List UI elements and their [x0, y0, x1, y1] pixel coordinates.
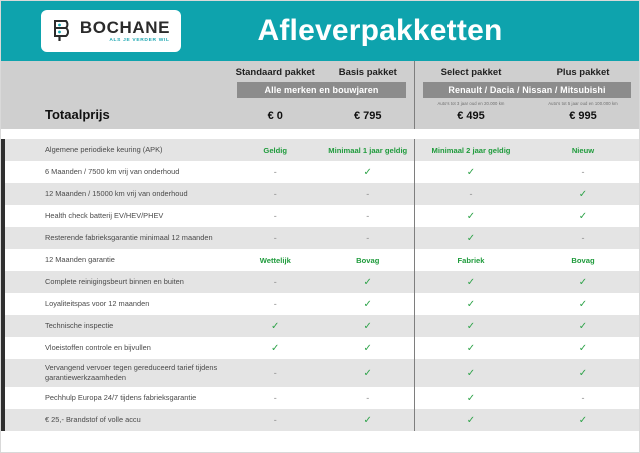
cell-select: ✓ [415, 271, 527, 293]
row-cells-brands: Minimaal 2 jaar geldigNieuw [414, 139, 639, 161]
cell-basis: ✓ [322, 161, 415, 183]
cell-select: ✓ [415, 315, 527, 337]
row-cells-brands: ✓✓ [414, 359, 639, 387]
totaalprijs-label-cell: Totaalprijs [1, 61, 229, 129]
row-cells-generic: WettelijkBovag [229, 249, 414, 271]
page-header: BOCHANE ALS JE VERDER WIL Afleverpakkett… [1, 1, 639, 61]
cell-basis: Minimaal 1 jaar geldig [322, 139, 415, 161]
cell-basis: - [322, 183, 415, 205]
cell-select: ✓ [415, 161, 527, 183]
table-row: 12 Maanden garantieWettelijkBovagFabriek… [1, 249, 639, 271]
table-row: Technische inspectie✓✓✓✓ [1, 315, 639, 337]
column-sub-plus: Auto's tot 5 jaar oud en 100.000 km [527, 101, 639, 110]
row-cells-generic: -- [229, 183, 414, 205]
row-cells-generic: -✓ [229, 161, 414, 183]
table-row: 12 Maanden / 15000 km vrij van onderhoud… [1, 183, 639, 205]
row-label: Complete reinigingsbeurt binnen en buite… [1, 277, 229, 287]
bochane-logo-icon [52, 18, 74, 44]
table-row: Complete reinigingsbeurt binnen en buite… [1, 271, 639, 293]
cell-standaard: - [229, 161, 322, 183]
cell-plus: ✓ [527, 293, 639, 315]
cell-basis: ✓ [322, 293, 415, 315]
package-group-brands: Select pakket Plus pakket Renault / Daci… [414, 61, 639, 129]
row-cells-brands: ✓✓ [414, 315, 639, 337]
row-cells-brands: FabriekBovag [414, 249, 639, 271]
cell-plus: - [527, 161, 639, 183]
cell-plus: - [527, 227, 639, 249]
cell-standaard: Geldig [229, 139, 322, 161]
row-cells-generic: -✓ [229, 359, 414, 387]
cell-select: ✓ [415, 337, 527, 359]
row-cells-brands: ✓✓ [414, 409, 639, 431]
price-basis: € 795 [322, 110, 415, 122]
cell-select: ✓ [415, 293, 527, 315]
column-title-select: Select pakket [415, 67, 527, 78]
row-cells-brands: ✓✓ [414, 337, 639, 359]
cell-standaard: - [229, 227, 322, 249]
cell-basis: ✓ [322, 337, 415, 359]
package-group-generic: Standaard pakket Basis pakket Alle merke… [229, 61, 414, 129]
afleverpakketten-page: BOCHANE ALS JE VERDER WIL Afleverpakkett… [0, 0, 640, 453]
cell-plus: ✓ [527, 315, 639, 337]
cell-plus: ✓ [527, 205, 639, 227]
cell-standaard: - [229, 183, 322, 205]
cell-basis: - [322, 227, 415, 249]
row-label: Technische inspectie [1, 321, 229, 331]
cell-select: Minimaal 2 jaar geldig [415, 139, 527, 161]
brand-tagline: ALS JE VERDER WIL [110, 39, 170, 44]
cell-select: Fabriek [415, 249, 527, 271]
table-row: € 25,- Brandstof of volle accu-✓✓✓ [1, 409, 639, 431]
row-cells-generic: -- [229, 205, 414, 227]
row-label: Pechhulp Europa 24/7 tijdens fabrieksgar… [1, 393, 229, 403]
row-cells-brands: ✓✓ [414, 205, 639, 227]
row-label: 12 Maanden garantie [1, 255, 229, 265]
table-row: Algemene periodieke keuring (APK)GeldigM… [1, 139, 639, 161]
cell-standaard: - [229, 271, 322, 293]
cell-basis: - [322, 387, 415, 409]
cell-select: ✓ [415, 227, 527, 249]
row-label: € 25,- Brandstof of volle accu [1, 415, 229, 425]
row-cells-brands: ✓✓ [414, 293, 639, 315]
group-badge-brands: Renault / Dacia / Nissan / Mitsubishi [423, 82, 631, 98]
row-label: 12 Maanden / 15000 km vrij van onderhoud [1, 189, 229, 199]
cell-standaard: - [229, 409, 322, 431]
row-cells-generic: -- [229, 227, 414, 249]
price-plus: € 995 [527, 110, 639, 122]
table-row: Vloeistoffen controle en bijvullen✓✓✓✓ [1, 337, 639, 359]
row-cells-brands: ✓- [414, 161, 639, 183]
cell-plus: ✓ [527, 359, 639, 387]
cell-plus: ✓ [527, 183, 639, 205]
cell-standaard: - [229, 205, 322, 227]
bochane-wordmark: BOCHANE ALS JE VERDER WIL [80, 19, 170, 43]
column-title-standaard: Standaard pakket [229, 67, 322, 78]
cell-plus: ✓ [527, 337, 639, 359]
cell-basis: Bovag [322, 249, 415, 271]
cell-basis: ✓ [322, 359, 415, 387]
cell-basis: - [322, 205, 415, 227]
table-row: 6 Maanden / 7500 km vrij van onderhoud-✓… [1, 161, 639, 183]
header-table-gap [1, 129, 639, 139]
column-title-plus: Plus pakket [527, 67, 639, 78]
column-header-band: Totaalprijs Standaard pakket Basis pakke… [1, 61, 639, 129]
row-cells-brands: ✓- [414, 387, 639, 409]
row-label: Vervangend vervoer tegen gereduceerd tar… [1, 363, 229, 383]
brand-name: BOCHANE [80, 19, 170, 36]
row-cells-generic: -✓ [229, 271, 414, 293]
row-label: Loyaliteitspas voor 12 maanden [1, 299, 229, 309]
table-row: Resterende fabrieksgarantie minimaal 12 … [1, 227, 639, 249]
cell-standaard: - [229, 387, 322, 409]
cell-plus: Bovag [527, 249, 639, 271]
row-cells-brands: ✓- [414, 227, 639, 249]
features-table: Algemene periodieke keuring (APK)GeldigM… [1, 139, 639, 431]
row-cells-generic: GeldigMinimaal 1 jaar geldig [229, 139, 414, 161]
table-row: Loyaliteitspas voor 12 maanden-✓✓✓ [1, 293, 639, 315]
cell-basis: ✓ [322, 271, 415, 293]
bochane-logo[interactable]: BOCHANE ALS JE VERDER WIL [41, 10, 181, 52]
cell-select: ✓ [415, 205, 527, 227]
table-row: Vervangend vervoer tegen gereduceerd tar… [1, 359, 639, 387]
row-label: Algemene periodieke keuring (APK) [1, 145, 229, 155]
cell-select: ✓ [415, 409, 527, 431]
price-select: € 495 [415, 110, 527, 122]
table-row: Health check batterij EV/HEV/PHEV--✓✓ [1, 205, 639, 227]
table-footer-pad [1, 431, 639, 449]
cell-standaard: Wettelijk [229, 249, 322, 271]
column-title-basis: Basis pakket [322, 67, 415, 78]
cell-plus: ✓ [527, 409, 639, 431]
cell-standaard: ✓ [229, 337, 322, 359]
row-cells-brands: -✓ [414, 183, 639, 205]
totaalprijs-label: Totaalprijs [45, 107, 110, 122]
cell-standaard: ✓ [229, 315, 322, 337]
group-subs-spacer-generic [229, 101, 414, 110]
row-label: Resterende fabrieksgarantie minimaal 12 … [1, 233, 229, 243]
price-standaard: € 0 [229, 110, 322, 122]
table-row: Pechhulp Europa 24/7 tijdens fabrieksgar… [1, 387, 639, 409]
row-label: 6 Maanden / 7500 km vrij van onderhoud [1, 167, 229, 177]
column-sub-select: Auto's tot 3 jaar oud en 20.000 km [415, 101, 527, 110]
row-cells-generic: ✓✓ [229, 315, 414, 337]
row-cells-generic: -✓ [229, 293, 414, 315]
row-label: Vloeistoffen controle en bijvullen [1, 343, 229, 353]
row-cells-generic: -- [229, 387, 414, 409]
cell-select: ✓ [415, 359, 527, 387]
row-cells-generic: -✓ [229, 409, 414, 431]
cell-standaard: - [229, 359, 322, 387]
cell-plus: ✓ [527, 271, 639, 293]
row-cells-generic: ✓✓ [229, 337, 414, 359]
cell-basis: ✓ [322, 409, 415, 431]
cell-basis: ✓ [322, 315, 415, 337]
cell-select: ✓ [415, 387, 527, 409]
cell-select: - [415, 183, 527, 205]
group-badge-generic: Alle merken en bouwjaren [237, 82, 406, 98]
cell-standaard: - [229, 293, 322, 315]
row-cells-brands: ✓✓ [414, 271, 639, 293]
cell-plus: Nieuw [527, 139, 639, 161]
row-label: Health check batterij EV/HEV/PHEV [1, 211, 229, 221]
cell-plus: - [527, 387, 639, 409]
